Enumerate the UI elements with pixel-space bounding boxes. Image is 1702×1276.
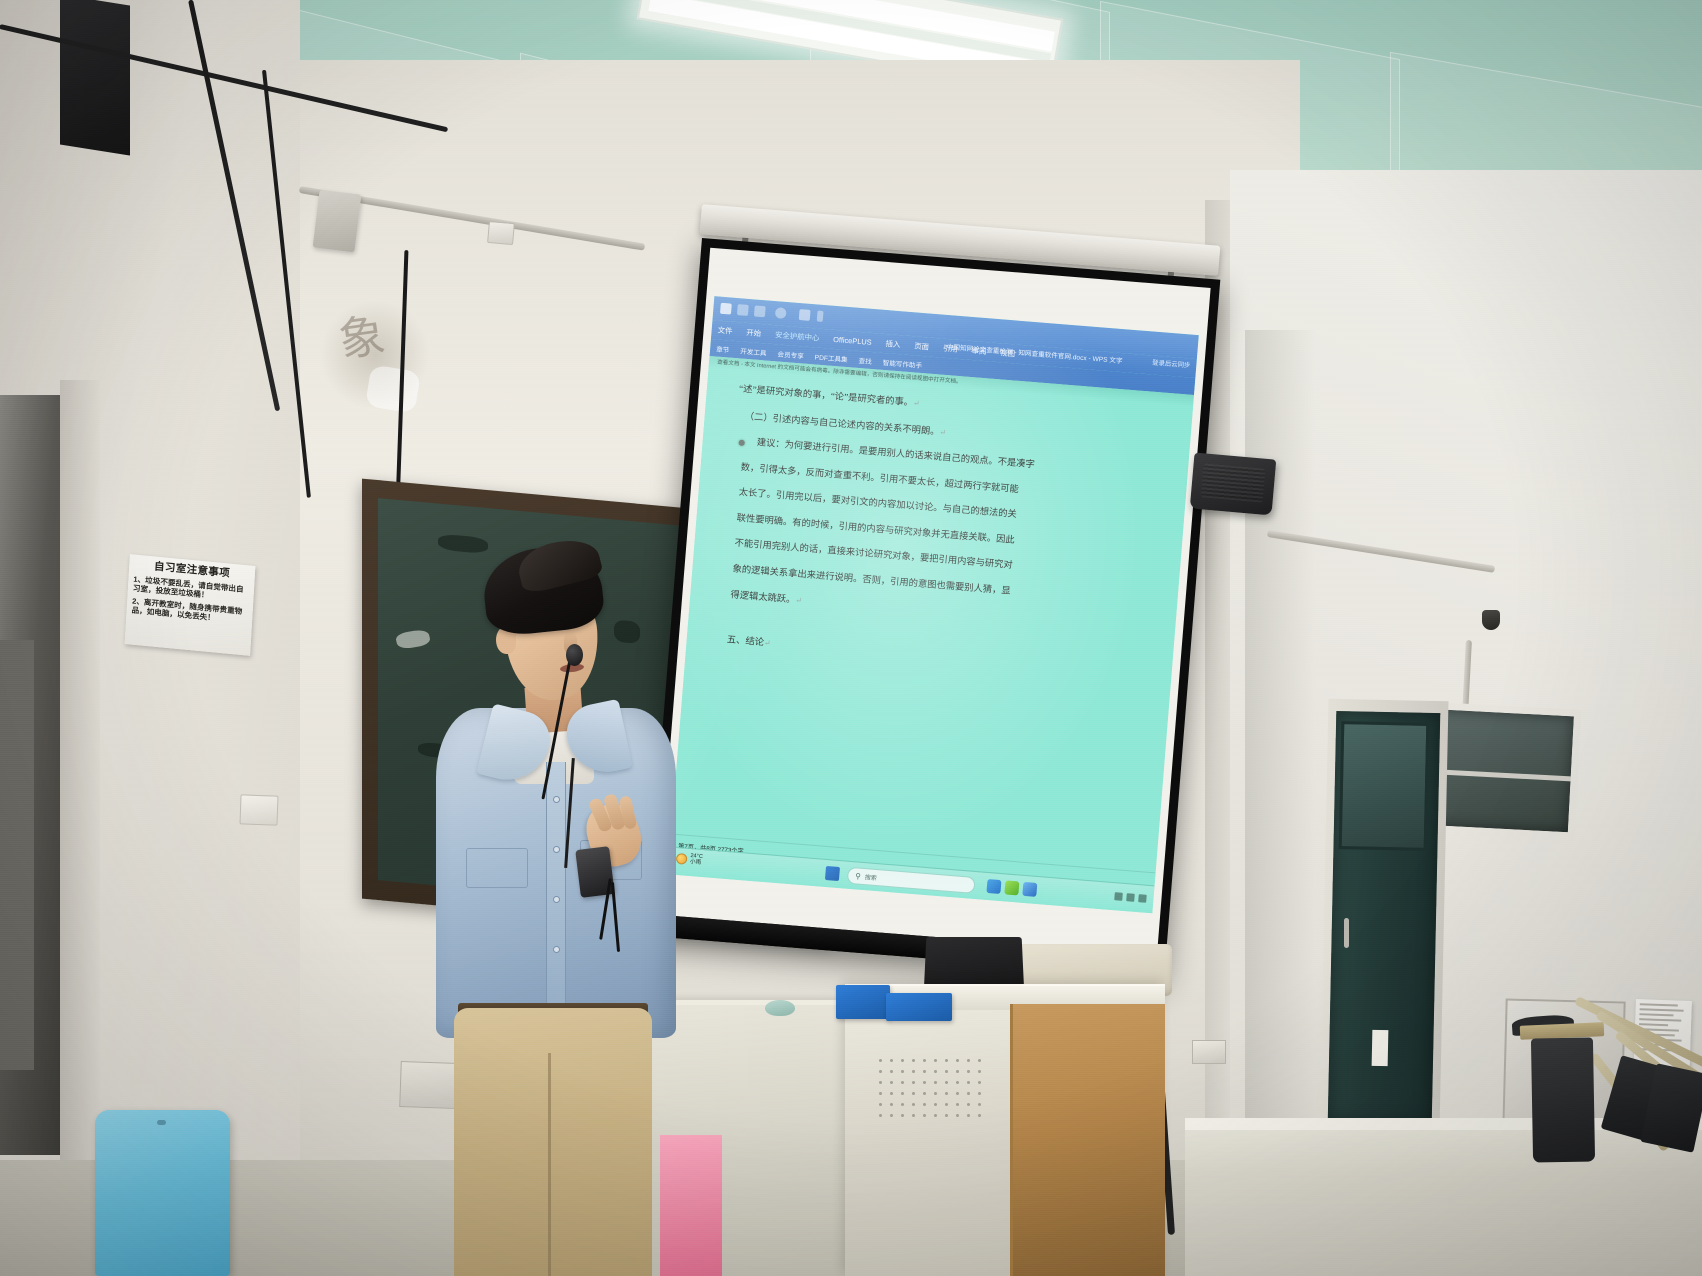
jacket-button xyxy=(553,796,560,803)
jacket-button xyxy=(553,946,560,953)
computer-mouse[interactable] xyxy=(765,1000,795,1016)
jacket-button xyxy=(553,846,560,853)
notice-line xyxy=(1640,1003,1678,1006)
tab-file[interactable]: 文件 xyxy=(717,325,733,337)
wall-speaker xyxy=(60,0,130,156)
projected-wps-window: 文件 开始 安全护航中心 OfficePLUS 插入 页面 引用 审阅 视图 中… xyxy=(668,296,1199,913)
jacket-button xyxy=(553,896,560,903)
notice-line xyxy=(1639,1013,1673,1016)
lecturer xyxy=(418,548,688,1276)
screen-surface: 文件 开始 安全护航中心 OfficePLUS 插入 页面 引用 审阅 视图 中… xyxy=(657,248,1211,955)
bullet-icon xyxy=(738,440,744,446)
taskbar-search-box[interactable]: ⚲ 搜索 xyxy=(847,867,976,894)
search-placeholder: 搜索 xyxy=(864,872,877,882)
blue-product-box xyxy=(886,993,952,1021)
projection-screen: 文件 开始 安全护航中心 OfficePLUS 插入 页面 引用 审阅 视图 中… xyxy=(646,238,1220,977)
trash-bin xyxy=(1531,1037,1595,1162)
tab-section[interactable]: 章节 xyxy=(716,343,730,354)
tab-officeplus[interactable]: OfficePLUS xyxy=(833,335,872,347)
jacket-pocket xyxy=(466,848,528,888)
pilcrow-mark: ↵ xyxy=(795,596,802,606)
junction-box xyxy=(313,190,362,253)
doc-line-text: 得逻辑太跳跃。 xyxy=(730,590,796,605)
podium-wood-panel xyxy=(1010,1004,1165,1276)
document-body[interactable]: “述”是研究对象的事，“论”是研究者的事。↵ （二）引述内容与自己论述内容的关系… xyxy=(670,368,1193,883)
raised-platform xyxy=(1185,1118,1702,1276)
search-icon: ⚲ xyxy=(855,871,861,880)
battery-icon[interactable] xyxy=(1138,894,1147,903)
save-icon[interactable] xyxy=(720,303,732,315)
plastic-stool xyxy=(95,1110,230,1276)
notice-line xyxy=(1639,1023,1668,1026)
trouser-seam xyxy=(548,1053,551,1276)
taskbar-app-icon[interactable] xyxy=(1004,880,1019,895)
taskbar-app-icon[interactable] xyxy=(1022,882,1037,897)
weather-desc: 小雨 xyxy=(690,859,703,866)
trousers xyxy=(454,1008,652,1276)
doc-line-text: 五、结论 xyxy=(726,635,764,648)
door-glass-panel xyxy=(1339,721,1430,851)
left-door-panel[interactable] xyxy=(0,640,34,1070)
tab-home[interactable]: 开始 xyxy=(746,327,762,339)
wall-patch xyxy=(365,364,421,413)
notice-line xyxy=(1640,1008,1684,1012)
wall-socket[interactable] xyxy=(239,794,278,825)
tab-pdf-tools[interactable]: PDF工具集 xyxy=(814,351,848,364)
taskbar-app-icon[interactable] xyxy=(986,879,1001,894)
volume-icon[interactable] xyxy=(1126,893,1135,902)
undo-icon[interactable] xyxy=(737,304,749,316)
corner-shadow xyxy=(1245,330,1315,1130)
cloud-icon[interactable] xyxy=(799,309,811,321)
microphone-icon xyxy=(566,644,583,666)
door-sign xyxy=(1372,1030,1389,1066)
print-icon[interactable] xyxy=(775,307,787,319)
tab-find[interactable]: 查找 xyxy=(858,354,872,365)
pilcrow-mark: ↵ xyxy=(764,638,771,648)
notice-line xyxy=(1639,1018,1681,1021)
more-icon[interactable] xyxy=(817,311,824,322)
pilcrow-mark: ↵ xyxy=(939,427,946,437)
wall-socket[interactable] xyxy=(487,221,515,245)
tab-insert[interactable]: 插入 xyxy=(885,338,901,350)
redo-icon[interactable] xyxy=(754,305,766,317)
study-room-notice-sign: 自习室注意事项 1、垃圾不要乱丢，请自觉带出自习室，投放至垃圾桶！ 2、离开教室… xyxy=(125,554,256,656)
wall-speaker xyxy=(1190,453,1277,516)
tab-developer[interactable]: 开发工具 xyxy=(740,345,767,357)
tab-security-center[interactable]: 安全护航中心 xyxy=(775,329,820,344)
door-handle[interactable] xyxy=(1344,918,1349,948)
left-door-frame xyxy=(60,380,100,1170)
tab-smart-writing[interactable]: 智能写作助手 xyxy=(882,356,922,369)
start-button[interactable] xyxy=(825,866,840,881)
network-icon[interactable] xyxy=(1114,892,1123,901)
classroom-photo-scene: 象 自习室注意事项 1、垃圾不要乱丢，请自觉带出自习室，投放至垃圾桶！ 2、离开… xyxy=(0,0,1702,1276)
security-camera xyxy=(1482,610,1500,630)
pilcrow-mark: ↵ xyxy=(913,398,920,408)
system-tray[interactable] xyxy=(1114,892,1147,903)
podium-speaker-grille xyxy=(875,1055,985,1125)
blue-product-box xyxy=(836,985,890,1019)
tab-page[interactable]: 页面 xyxy=(914,340,930,352)
tab-member[interactable]: 会员专享 xyxy=(777,348,804,360)
wall-outlet[interactable] xyxy=(1192,1040,1226,1064)
